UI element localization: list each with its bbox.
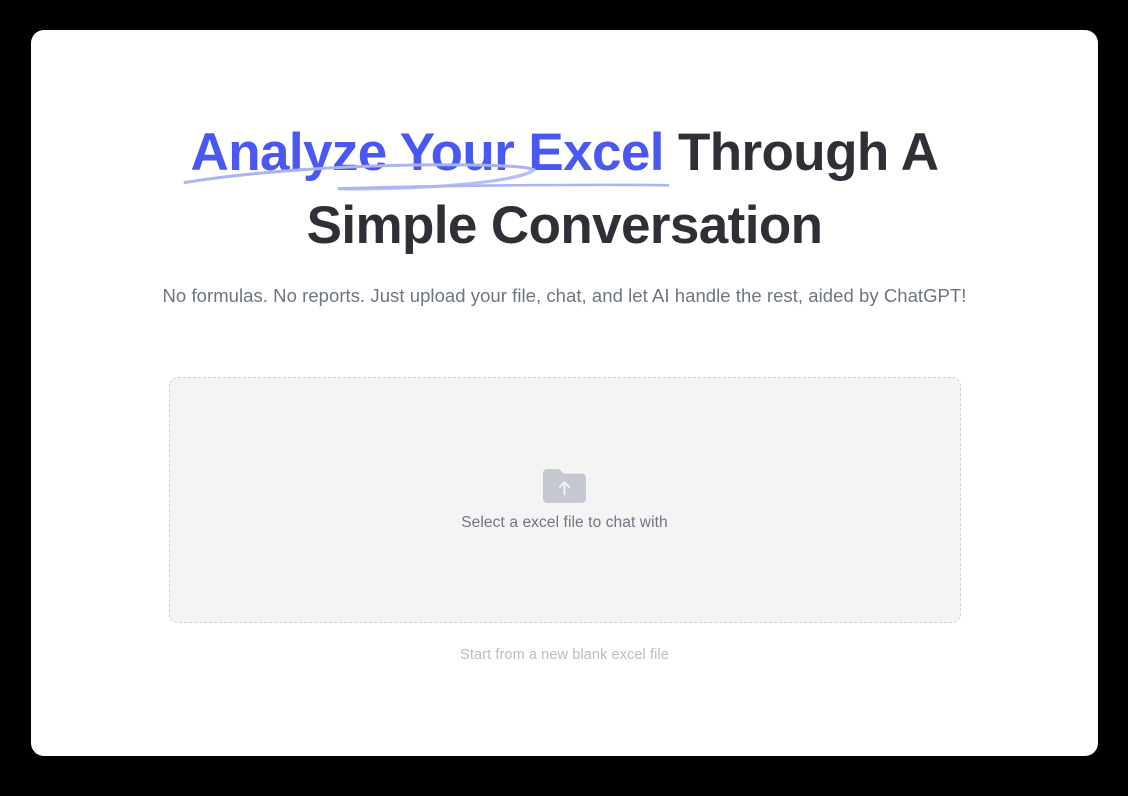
upload-section: Select a excel file to chat with Start f…: [169, 377, 961, 663]
headline-accent-text: Analyze Your Excel: [191, 123, 664, 182]
page-subtitle: No formulas. No reports. Just upload you…: [45, 283, 1085, 309]
file-dropzone[interactable]: Select a excel file to chat with: [169, 377, 961, 623]
headline-rest-text: Through A: [664, 123, 939, 182]
folder-upload-icon: [543, 469, 586, 503]
landing-page: Analyze Your Excel Through A Simple Conv…: [31, 30, 1098, 756]
headline-line-1: Analyze Your Excel Through A: [65, 116, 1065, 189]
start-blank-file-link[interactable]: Start from a new blank excel file: [460, 647, 669, 663]
headline-accent-phrase: Analyze Your Excel: [191, 116, 664, 189]
app-window: Analyze Your Excel Through A Simple Conv…: [31, 30, 1098, 756]
dropzone-label: Select a excel file to chat with: [461, 514, 668, 532]
page-title: Analyze Your Excel Through A Simple Conv…: [65, 116, 1065, 262]
headline-line-2: Simple Conversation: [65, 189, 1065, 262]
